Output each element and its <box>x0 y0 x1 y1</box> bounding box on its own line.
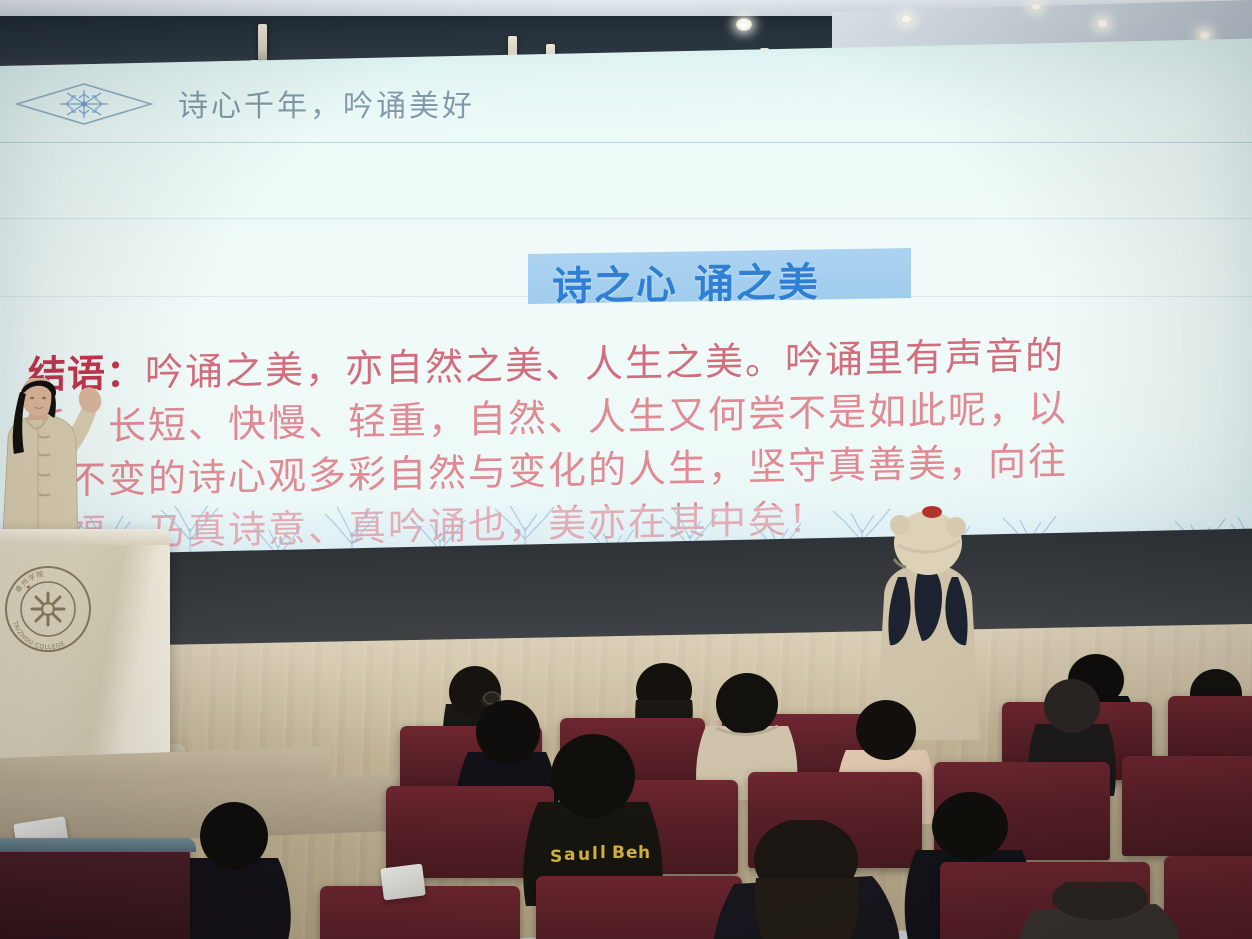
podium-top-surface <box>0 529 170 545</box>
slide-header: 诗心千年，吟诵美好 <box>0 66 1252 140</box>
svg-text:u: u <box>578 845 590 865</box>
svg-text:e: e <box>626 843 638 863</box>
auditorium-seat[interactable] <box>1122 756 1252 856</box>
svg-text:h: h <box>638 843 650 863</box>
recessed-light <box>900 14 913 24</box>
recessed-light <box>1096 18 1109 29</box>
slide-header-title: 诗心千年，吟诵美好 <box>178 81 475 125</box>
recessed-light <box>1030 2 1042 11</box>
seated-audience: Sau llB eh <box>0 630 1252 939</box>
audience-member <box>176 798 296 939</box>
lecture-hall-screenshot: 诗心千年，吟诵美好 诗之心 诵之美 结语：吟诵之美，亦自然之美、人生之美。吟诵里… <box>0 0 1252 939</box>
foreground-desk-edge <box>0 838 196 852</box>
projection-screen: 诗心千年，吟诵美好 诗之心 诵之美 结语：吟诵之美，亦自然之美、人生之美。吟诵里… <box>0 39 1252 566</box>
svg-text:B: B <box>612 843 625 863</box>
svg-text:a: a <box>564 845 575 865</box>
svg-text:l: l <box>592 844 598 864</box>
notebook-on-desk <box>380 864 426 901</box>
svg-text:l: l <box>600 843 606 863</box>
screen-divider-line <box>0 142 1252 143</box>
foreground-desk <box>0 845 190 939</box>
audience-member <box>1016 882 1184 939</box>
screen-divider-line <box>0 218 1252 219</box>
svg-text:S: S <box>550 847 562 867</box>
slide-title: 诗之心 诵之美 <box>552 250 820 312</box>
audience-member <box>712 820 902 939</box>
recessed-light <box>736 18 752 31</box>
snowflake-diamond-icon <box>14 82 154 126</box>
speaker-presenter <box>0 378 114 553</box>
